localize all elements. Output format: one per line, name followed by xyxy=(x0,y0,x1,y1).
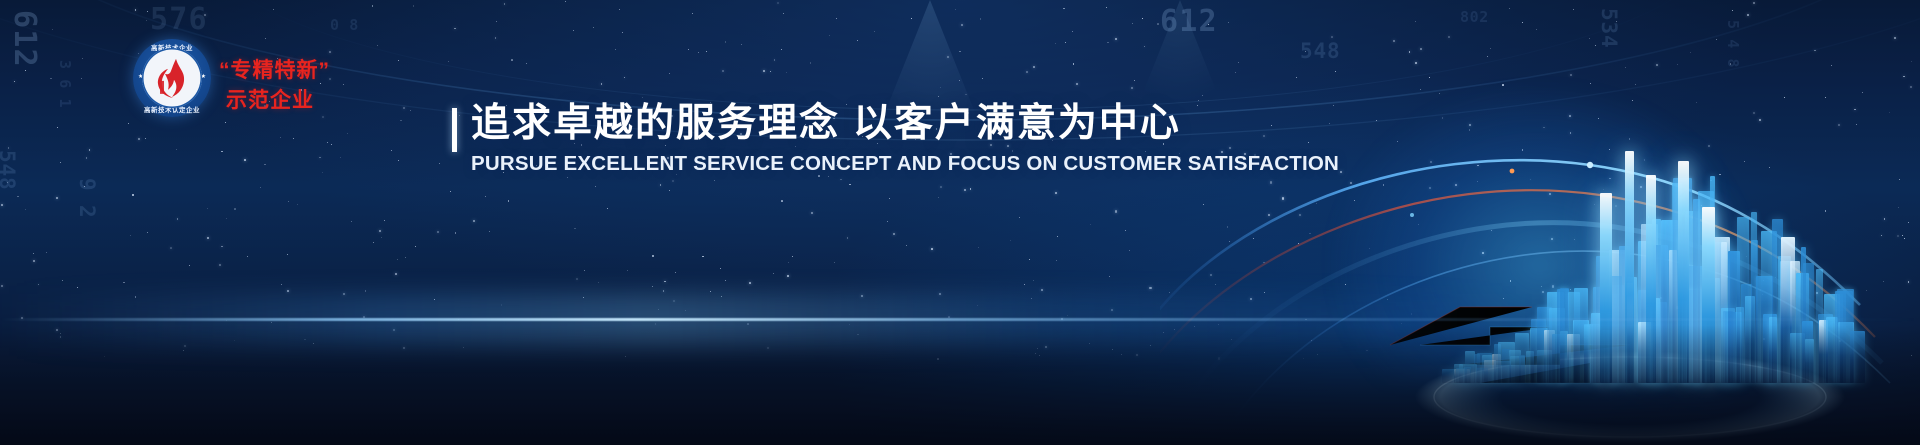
headline-block: 追求卓越的服务理念 以客户满意为中心 xyxy=(452,104,1181,152)
bottom-vignette xyxy=(0,325,1920,445)
headline-main-text: 追求卓越的服务理念 以客户满意为中心 xyxy=(471,104,1181,143)
slogan-red-line-1: “专精特新” xyxy=(219,54,330,84)
badge: 高新技术企业 高新技术认定企业 ★ ★ xyxy=(133,39,211,117)
headline-accent-bar xyxy=(452,108,457,152)
slogan-red-line-2: 示范企业 xyxy=(226,84,314,114)
hero-banner: 612 548 3 6 1 9 2 576 0 8 612 548 802 53… xyxy=(0,0,1920,445)
flame-logo-icon xyxy=(152,57,192,101)
bottom-light-streak xyxy=(0,318,1920,321)
